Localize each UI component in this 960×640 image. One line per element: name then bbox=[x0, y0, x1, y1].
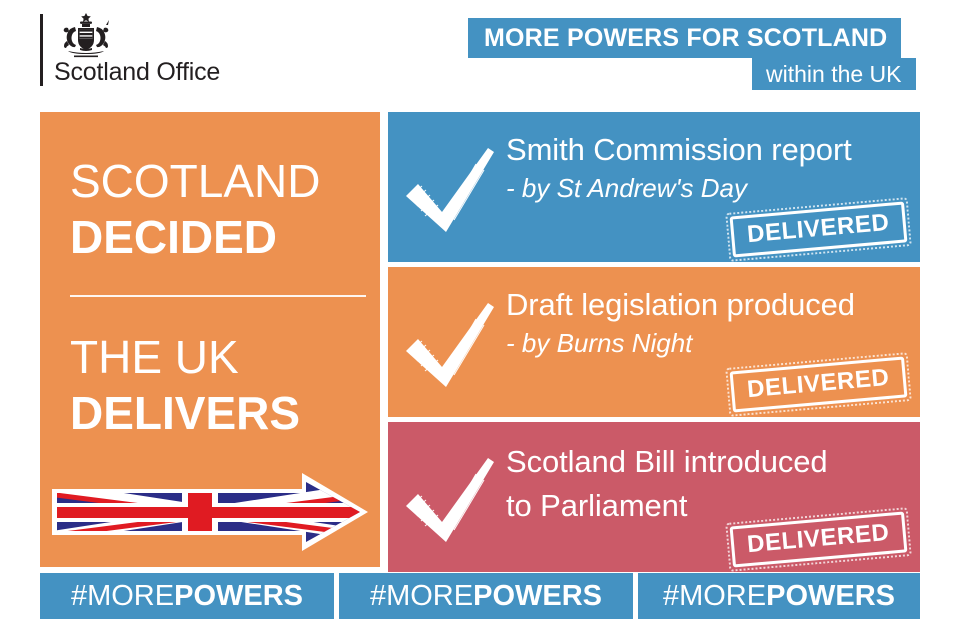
headline-delivers: DELIVERS bbox=[70, 386, 300, 440]
union-jack-arrow-icon bbox=[52, 467, 372, 557]
hashtag-light: #MORE bbox=[370, 580, 473, 613]
banner-secondary-text: within the UK bbox=[766, 61, 902, 88]
task-title: Draft legislation produced bbox=[506, 285, 855, 325]
headline-decided: DECIDED bbox=[70, 210, 277, 264]
status-badge-delivered: DELIVERED bbox=[730, 356, 908, 412]
task-panel-smith-commission: Smith Commission report - by St Andrew's… bbox=[388, 112, 920, 262]
headline-the-uk: THE UK bbox=[70, 330, 239, 384]
hashtag-bold: POWERS bbox=[766, 580, 895, 613]
hashtag-footer: #MOREPOWERS #MOREPOWERS #MOREPOWERS bbox=[40, 573, 920, 619]
hashtag-light: #MORE bbox=[71, 580, 174, 613]
hashtag-cell[interactable]: #MOREPOWERS bbox=[40, 573, 334, 619]
banner-primary-text: MORE POWERS FOR SCOTLAND bbox=[484, 24, 887, 53]
status-badge-delivered: DELIVERED bbox=[730, 511, 908, 567]
banner-more-powers-for-scotland: MORE POWERS FOR SCOTLAND bbox=[468, 18, 901, 58]
logo-wordmark: Scotland Office bbox=[54, 58, 220, 87]
left-headline-panel: SCOTLAND DECIDED THE UK DELIVERS bbox=[40, 112, 380, 567]
task-title: Smith Commission report bbox=[506, 130, 852, 170]
logo-rule bbox=[40, 14, 43, 86]
status-badge-delivered: DELIVERED bbox=[730, 201, 908, 257]
task-panel-scotland-bill: Scotland Bill introduced to Parliament D… bbox=[388, 422, 920, 572]
royal-coat-of-arms-icon bbox=[54, 12, 118, 60]
hashtag-light: #MORE bbox=[663, 580, 766, 613]
hashtag-bold: POWERS bbox=[174, 580, 303, 613]
banner-within-the-uk: within the UK bbox=[752, 58, 916, 90]
headline-divider bbox=[70, 295, 366, 297]
task-title: Scotland Bill introduced bbox=[506, 440, 828, 484]
hand-drawn-check-icon bbox=[402, 293, 498, 393]
task-text-block: Draft legislation produced - by Burns Ni… bbox=[506, 285, 855, 361]
scotland-office-logo: Scotland Office bbox=[40, 10, 380, 90]
task-subtitle: - by St Andrew's Day bbox=[506, 170, 852, 206]
task-text-block: Smith Commission report - by St Andrew's… bbox=[506, 130, 852, 206]
header: Scotland Office MORE POWERS FOR SCOTLAND… bbox=[0, 0, 960, 110]
hashtag-cell[interactable]: #MOREPOWERS bbox=[339, 573, 633, 619]
hand-drawn-check-icon bbox=[402, 138, 498, 238]
task-subtitle: - by Burns Night bbox=[506, 325, 855, 361]
hashtag-bold: POWERS bbox=[473, 580, 602, 613]
hand-drawn-check-icon bbox=[402, 448, 498, 548]
headline-scotland: SCOTLAND bbox=[70, 154, 320, 208]
task-text-block: Scotland Bill introduced to Parliament bbox=[506, 440, 828, 528]
hashtag-cell[interactable]: #MOREPOWERS bbox=[638, 573, 920, 619]
task-panel-draft-legislation: Draft legislation produced - by Burns Ni… bbox=[388, 267, 920, 417]
